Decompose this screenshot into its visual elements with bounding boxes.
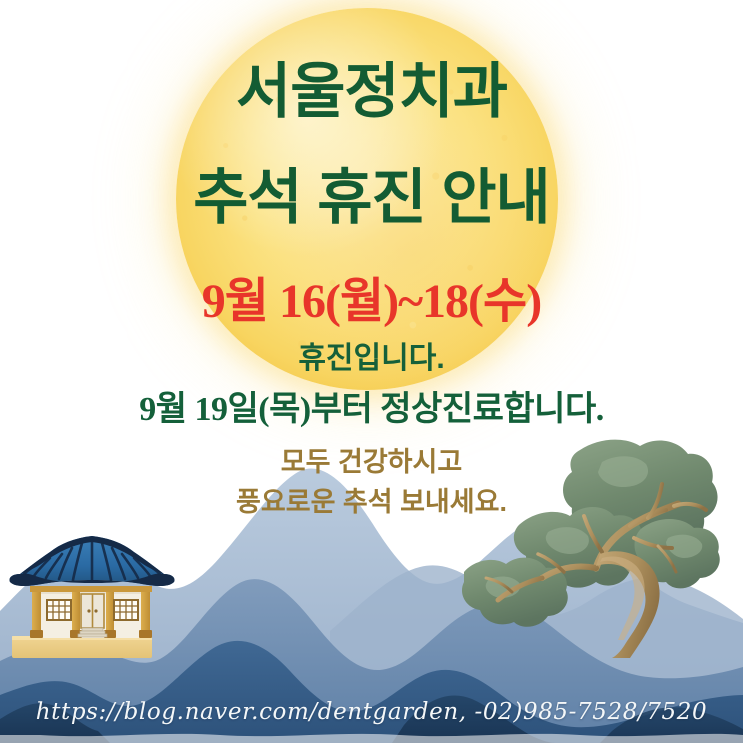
reopen-note: 9월 19일(목)부터 정상진료합니다. <box>0 393 743 427</box>
notice-title: 추석 휴진 안내 <box>0 168 743 228</box>
hanok-house-icon <box>2 516 218 666</box>
greeting-line-1: 모두 건강하시고 <box>0 449 743 476</box>
blog-url-and-phone[interactable]: https://blog.naver.com/dentgarden, -02)9… <box>0 699 743 725</box>
holiday-date-range: 9월 16(월)~18(수) <box>0 278 743 326</box>
closed-note: 휴진입니다. <box>0 344 743 374</box>
chuseok-holiday-notice-poster: 서울정치과 추석 휴진 안내 9월 16(월)~18(수) 휴진입니다. 9월 … <box>0 0 743 743</box>
clinic-title: 서울정치과 <box>0 62 743 122</box>
greeting-line-2: 풍요로운 추석 보내세요. <box>0 489 743 516</box>
